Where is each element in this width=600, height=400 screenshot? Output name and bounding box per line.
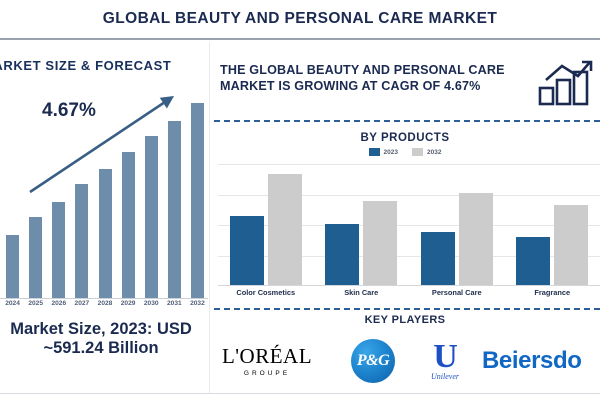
product-bar — [459, 193, 493, 285]
forecast-bar — [99, 169, 112, 298]
forecast-year-label: 2032 — [186, 300, 208, 307]
forecast-year-label: 2030 — [140, 300, 163, 307]
forecast-year-label: 2025 — [24, 300, 47, 307]
by-products-category-labels: Color CosmeticsSkin CarePersonal CareFra… — [218, 288, 600, 302]
gridline — [218, 164, 600, 165]
by-products-bar-chart — [218, 164, 600, 286]
legend-item: 2023 — [369, 148, 398, 156]
forecast-bar-chart — [0, 80, 208, 298]
forecast-bar — [75, 184, 88, 298]
key-players-row: L'ORÉAL GROUPE P&G U Unilever Beiersdo — [210, 330, 600, 392]
product-category-label: Personal Care — [409, 288, 505, 297]
forecast-year-label: 2026 — [47, 300, 70, 307]
forecast-bar — [145, 136, 158, 298]
by-products-title: BY PRODUCTS — [210, 132, 600, 144]
market-size-footnote-line2: ~591.24 Billion — [0, 339, 208, 358]
market-size-forecast-panel: MARKET SIZE & FORECAST 4.67% 20242025202… — [0, 42, 208, 400]
forecast-year-labels: 202420252026202720282029203020312032 — [0, 300, 208, 314]
forecast-year-label: 2029 — [117, 300, 140, 307]
forecast-axis-line — [0, 298, 208, 299]
page-title: GLOBAL BEAUTY AND PERSONAL CARE MARKET — [103, 10, 497, 28]
separator-top — [214, 120, 600, 122]
forecast-year-label: 2024 — [1, 300, 24, 307]
by-products-panel: THE GLOBAL BEAUTY AND PERSONAL CARE MARK… — [210, 42, 600, 400]
product-bar — [554, 205, 588, 285]
bar-chart-growth-icon — [538, 60, 594, 106]
forecast-bar — [52, 202, 65, 298]
forecast-year-label: 2028 — [93, 300, 116, 307]
growth-headline-block: THE GLOBAL BEAUTY AND PERSONAL CARE MARK… — [220, 62, 540, 95]
key-player-unilever: U Unilever — [410, 330, 480, 392]
key-players-title: KEY PLAYERS — [210, 314, 600, 326]
product-bar — [268, 174, 302, 285]
forecast-bar — [29, 217, 42, 298]
legend-swatch — [369, 148, 380, 156]
legend-label: 2032 — [427, 149, 441, 156]
forecast-year-label: 2027 — [70, 300, 93, 307]
forecast-bar — [168, 121, 181, 298]
pg-logo-text: P&G — [357, 352, 389, 370]
product-bar — [516, 237, 550, 285]
separator-bottom — [214, 308, 600, 310]
forecast-bar — [122, 152, 135, 298]
page-header: GLOBAL BEAUTY AND PERSONAL CARE MARKET — [0, 0, 600, 40]
market-size-footnote: Market Size, 2023: USD ~591.24 Billion — [0, 320, 208, 359]
product-bar — [421, 232, 455, 285]
loreal-subtitle: GROUPE — [244, 370, 290, 377]
product-bar — [363, 201, 397, 285]
key-player-pg: P&G — [338, 330, 408, 392]
market-size-footnote-line1: Market Size, 2023: USD — [0, 320, 208, 339]
loreal-logo: L'ORÉAL — [222, 346, 312, 367]
chart-axis-line — [218, 285, 600, 286]
legend-item: 2032 — [412, 148, 441, 156]
by-products-legend: 20232032 — [210, 148, 600, 156]
legend-swatch — [412, 148, 423, 156]
infographic-page: GLOBAL BEAUTY AND PERSONAL CARE MARKET M… — [0, 0, 600, 400]
pg-logo: P&G — [351, 339, 395, 383]
growth-headline: THE GLOBAL BEAUTY AND PERSONAL CARE MARK… — [220, 62, 540, 95]
unilever-wordmark: Unilever — [431, 372, 459, 381]
product-category-label: Color Cosmetics — [218, 288, 314, 297]
market-size-forecast-heading: MARKET SIZE & FORECAST — [0, 58, 171, 73]
footer-rule — [0, 393, 600, 394]
key-player-beiersdorf: Beiersdo — [482, 330, 600, 392]
beiersdorf-logo: Beiersdo — [482, 347, 582, 375]
legend-label: 2023 — [384, 149, 398, 156]
forecast-bar — [6, 235, 19, 298]
key-player-loreal: L'ORÉAL GROUPE — [202, 330, 332, 392]
unilever-logo: U — [433, 341, 457, 373]
forecast-year-label: 2031 — [163, 300, 186, 307]
product-bar — [325, 224, 359, 285]
product-category-label: Fragrance — [505, 288, 600, 297]
product-bar — [230, 216, 264, 285]
forecast-bar — [191, 103, 204, 298]
product-category-label: Skin Care — [314, 288, 410, 297]
